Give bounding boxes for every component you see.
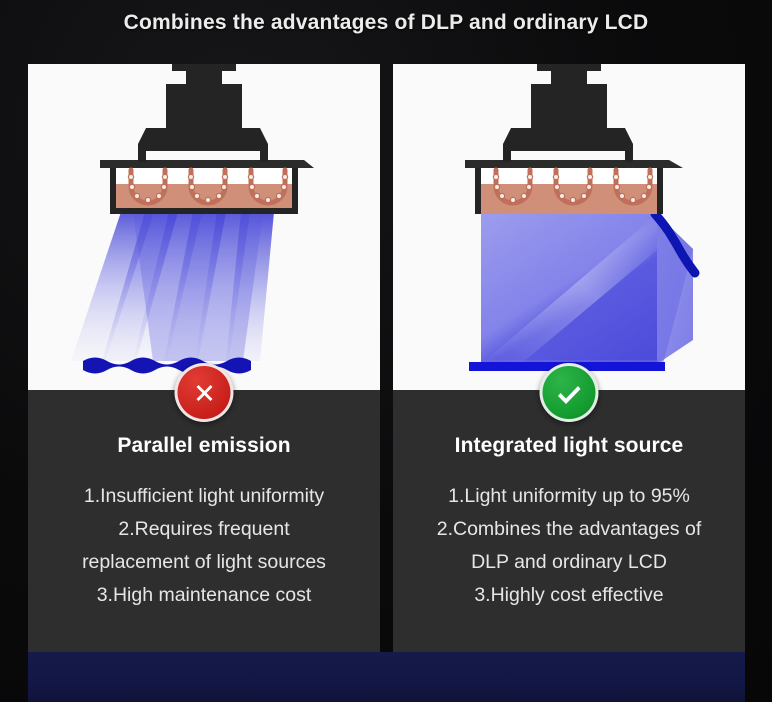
bullet-item: replacement of light sources: [38, 546, 370, 579]
bullet-item: 1.Insufficient light uniformity: [38, 480, 370, 513]
lamp-housing: [100, 160, 314, 214]
bullet-item: 3.Highly cost effective: [403, 579, 735, 612]
check-icon: [540, 363, 599, 422]
panel-info-integrated: Integrated light source 1.Light uniformi…: [393, 390, 745, 652]
slide-background: Combines the advantages of DLP and ordin…: [0, 0, 772, 702]
cross-icon: [175, 363, 234, 422]
bullet-item: 2.Requires frequent: [38, 513, 370, 546]
panel-integrated-light-source[interactable]: Integrated light source 1.Light uniformi…: [393, 64, 745, 652]
panel-heading: Parallel emission: [117, 434, 290, 458]
light-beam-fan: [71, 212, 274, 361]
light-block-front-face: [481, 214, 657, 364]
bottom-navy-band: [28, 652, 745, 702]
bullet-item: 2.Combines the advantages of: [403, 513, 735, 546]
panel-bullets: 1.Insufficient light uniformity 2.Requir…: [28, 480, 380, 612]
illustration-parallel-emission: [28, 64, 380, 390]
panel-info-parallel: Parallel emission 1.Insufficient light u…: [28, 390, 380, 652]
bullet-item: DLP and ordinary LCD: [403, 546, 735, 579]
projector-body: [138, 64, 268, 162]
bullet-item: 1.Light uniformity up to 95%: [403, 480, 735, 513]
comparison-panels: Parallel emission 1.Insufficient light u…: [28, 64, 745, 652]
page-title: Combines the advantages of DLP and ordin…: [0, 0, 772, 46]
bullet-item: 3.High maintenance cost: [38, 579, 370, 612]
projector-body: [503, 64, 633, 162]
lamp-housing: [465, 160, 683, 214]
panel-parallel-emission[interactable]: Parallel emission 1.Insufficient light u…: [28, 64, 380, 652]
panel-bullets: 1.Light uniformity up to 95% 2.Combines …: [393, 480, 745, 612]
panel-heading: Integrated light source: [455, 434, 684, 458]
illustration-integrated-light-source: [393, 64, 745, 390]
